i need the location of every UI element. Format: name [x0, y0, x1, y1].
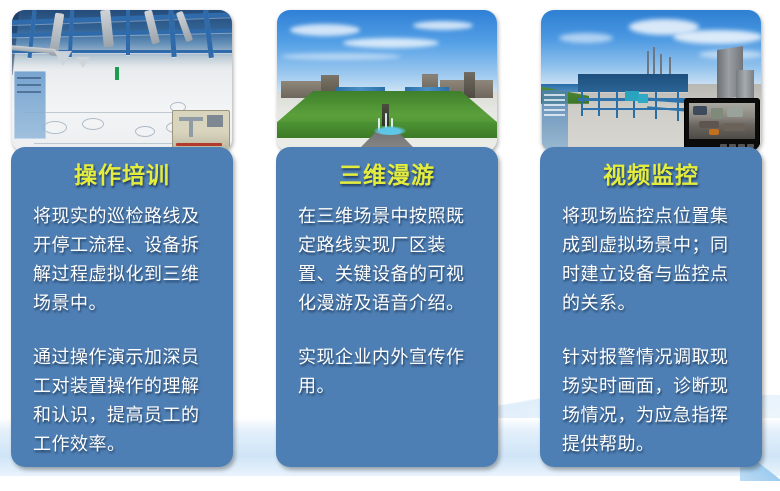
card-text-panel: 操作培训 将现实的巡检路线及开停工流程、设备拆解过程虚拟化到三维场景中。 通过操…: [11, 147, 233, 467]
feature-card-video-surveillance[interactable]: 视频监控 将现场监控点位置集成到虚拟场景中；同时建立设备与监控点的关系。 针对报…: [540, 10, 761, 468]
card-body: 在三维场景中按照既定路线实现厂区装置、关键设备的可视化漫游及语音介绍。 实现企业…: [298, 202, 482, 401]
feature-card-three-dimensional-roaming[interactable]: 三维漫游 在三维场景中按照既定路线实现厂区装置、关键设备的可视化漫游及语音介绍。…: [276, 10, 497, 468]
equipment-unit: [638, 94, 648, 103]
pipe-rack: [405, 87, 449, 91]
cloud: [673, 30, 761, 44]
card-paragraph: 将现实的巡检路线及开停工流程、设备拆解过程虚拟化到三维场景中。: [33, 202, 217, 318]
equipment-unit: [625, 91, 639, 101]
3d-plant-with-video-monitor-inset-screenshot[interactable]: [541, 10, 761, 152]
feature-card-operation-training[interactable]: 操作培训 将现实的巡检路线及开停工流程、设备拆解过程虚拟化到三维场景中。 通过操…: [11, 10, 232, 468]
card-paragraph: 通过操作演示加深员工对装置操作的理解和认识，提高员工的工作效率。: [33, 343, 217, 459]
card-paragraph: 实现企业内外宣传作用。: [298, 343, 482, 401]
3d-outdoor-plant-lawn-fountain-screenshot[interactable]: [277, 10, 497, 152]
card-title: 三维漫游: [276, 161, 498, 189]
cloud: [281, 53, 401, 60]
floor-marking: [43, 121, 67, 134]
equipment-model: [172, 110, 230, 150]
slide-canvas: 操作培训 将现实的巡检路线及开停工流程、设备拆解过程虚拟化到三维场景中。 通过操…: [0, 0, 780, 491]
canopy-structure: [578, 74, 688, 92]
cloud: [559, 33, 613, 43]
scene-ui-overlay-panel: [14, 71, 46, 139]
support-column: [598, 91, 600, 117]
video-feed: [689, 103, 755, 139]
funnel: [76, 57, 90, 68]
scene-ui-overlay-panel: [542, 90, 568, 150]
stack: [653, 47, 655, 77]
card-text-panel: 视频监控 将现场监控点位置集成到虚拟场景中；同时建立设备与监控点的关系。 针对报…: [540, 147, 762, 467]
card-body: 将现场监控点位置集成到虚拟场景中；同时建立设备与监控点的关系。 针对报警情况调取…: [562, 202, 746, 459]
card-title: 操作培训: [11, 161, 233, 189]
fountain-pool: [374, 126, 406, 135]
support-column: [677, 92, 679, 120]
card-paragraph: 针对报警情况调取现场实时画面，诊断现场情况，为应急指挥提供帮助。: [562, 343, 746, 459]
green-marker: [115, 67, 119, 80]
card-text-panel: 三维漫游 在三维场景中按照既定路线实现厂区装置、关键设备的可视化漫游及语音介绍。…: [276, 147, 498, 467]
pipe-column: [126, 10, 130, 55]
card-paragraph: 在三维场景中按照既定路线实现厂区装置、关键设备的可视化漫游及语音介绍。: [298, 202, 482, 318]
stack: [647, 51, 649, 77]
funnel: [54, 51, 72, 66]
card-paragraph: 将现场监控点位置集成到虚拟场景中；同时建立设备与监控点的关系。: [562, 202, 746, 318]
support-column: [655, 91, 657, 119]
support-column: [616, 91, 618, 118]
3d-indoor-plant-pipes-screenshot[interactable]: [12, 10, 232, 152]
card-title: 视频监控: [540, 161, 762, 189]
building: [464, 72, 475, 97]
card-body: 将现实的巡检路线及开停工流程、设备拆解过程虚拟化到三维场景中。 通过操作演示加深…: [33, 202, 217, 459]
video-monitor-inset[interactable]: [685, 99, 759, 151]
support-column: [581, 91, 583, 117]
